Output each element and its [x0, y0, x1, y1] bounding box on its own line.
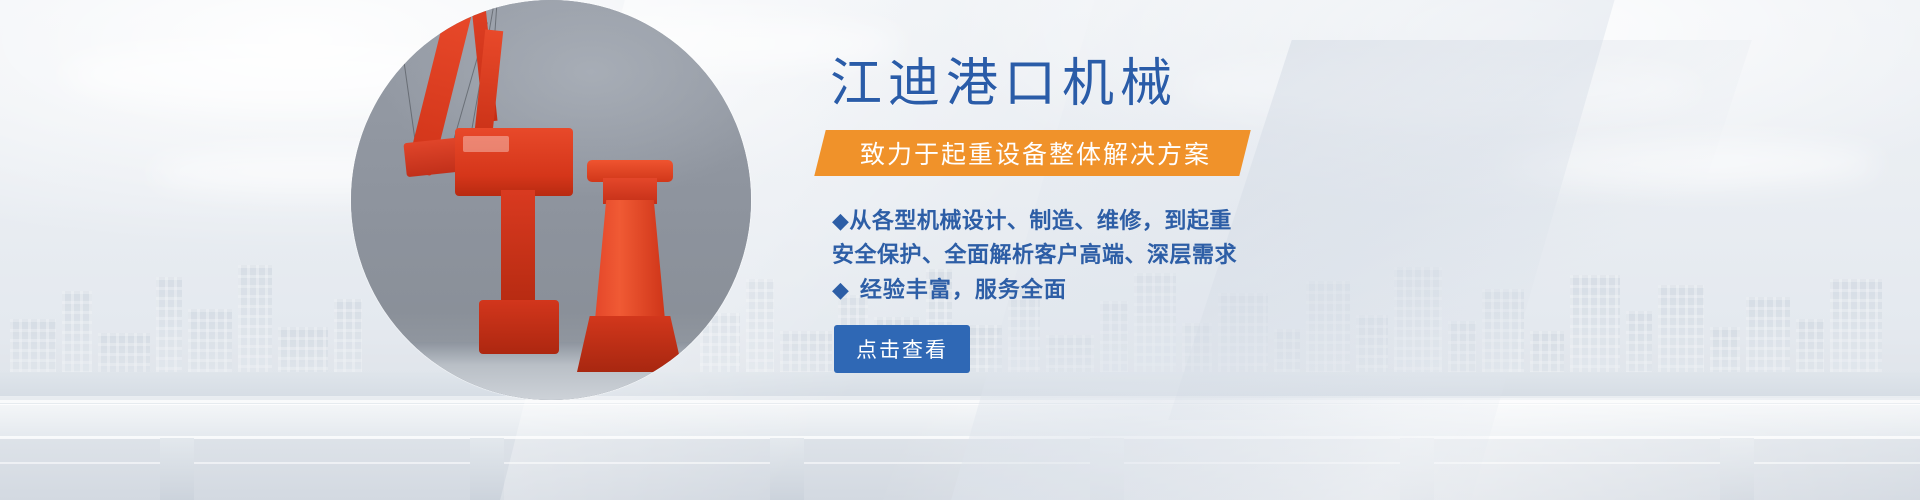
tagline-ribbon: 致力于起重设备整体解决方案: [814, 130, 1250, 176]
diamond-bullet-icon: ◆: [832, 277, 850, 302]
banner-headline: 江迪港口机械: [830, 58, 1178, 110]
feature-bullet-secondary-text: 经验丰富，服务全面: [860, 277, 1067, 302]
feature-bullet-line-1: ◆从各型机械设计、制造、维修，到起重: [832, 204, 1352, 238]
tagline-text: 致力于起重设备整体解决方案: [860, 135, 1211, 171]
feature-bullet-secondary: ◆经验丰富，服务全面: [832, 272, 1067, 304]
banner-content: 江迪港口机械 致力于起重设备整体解决方案 ◆从各型机械设计、制造、维修，到起重 …: [830, 0, 1850, 500]
feature-bullets: ◆从各型机械设计、制造、维修，到起重 安全保护、全面解析客户高端、深层需求: [832, 204, 1352, 272]
harbor-crane-photo: [351, 0, 751, 400]
view-details-button[interactable]: 点击查看: [834, 325, 970, 373]
hero-banner: 江迪港口机械 致力于起重设备整体解决方案 ◆从各型机械设计、制造、维修，到起重 …: [0, 0, 1920, 500]
feature-bullet-line-2: 安全保护、全面解析客户高端、深层需求: [832, 238, 1352, 272]
